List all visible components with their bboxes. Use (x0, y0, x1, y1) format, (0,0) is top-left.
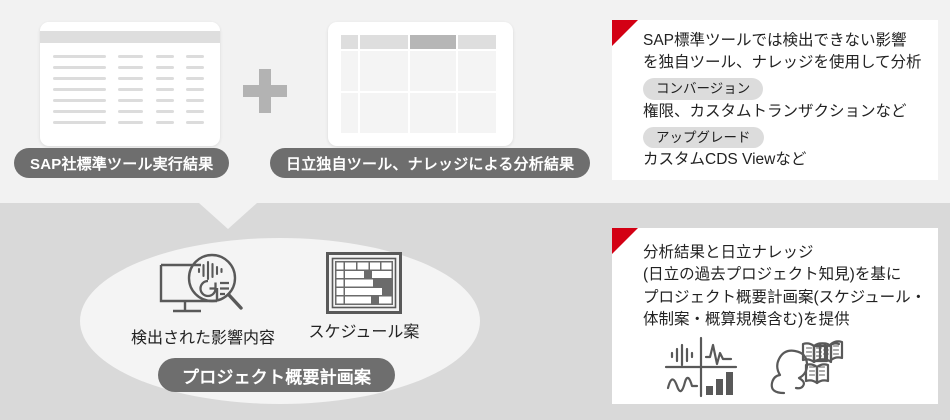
table-row (53, 51, 207, 62)
detected-impact-item: 検出された影響内容 (118, 248, 288, 348)
table-row (53, 106, 207, 117)
tag-conversion: コンバージョン (643, 78, 763, 100)
table-row (53, 95, 207, 106)
gantt-schedule-icon (326, 252, 402, 314)
label-sap-standard-tool-result: SAP社標準ツール実行結果 (14, 148, 229, 178)
panel1-line: を独自ツール、ナレッジを使用して分析 (643, 52, 930, 74)
deliverable-body: 分析結果と日立ナレッジ (日立の過去プロジェクト知見)を基に プロジェクト概要計… (643, 242, 930, 332)
panel1-line: SAP標準ツールでは検出できない影響 (643, 30, 930, 52)
panel2-line: プロジェクト概要計画案(スケジュール・ (643, 287, 930, 309)
analytics-quadrant-icon (664, 336, 738, 398)
table-row (53, 73, 207, 84)
table-row (53, 62, 207, 73)
panel1-detail: 権限、カスタムトランザクションなど (643, 101, 930, 123)
hitachi-tool-card (328, 22, 513, 146)
table-row (341, 51, 500, 91)
schedule-plan-item: スケジュール案 (294, 252, 434, 342)
tag-upgrade: アップグレード (643, 127, 764, 149)
card1-titlebar (40, 22, 220, 31)
label-hitachi-tool-result: 日立独自ツール、ナレッジによる分析結果 (270, 148, 590, 178)
table-row (53, 84, 207, 95)
panel2-line: 体制案・概算規模含む)を提供 (643, 309, 930, 331)
card1-table-rows (53, 51, 207, 128)
table-header-row (341, 35, 500, 49)
schedule-plan-caption: スケジュール案 (309, 318, 420, 342)
table-row (53, 117, 207, 128)
panel1-detail: カスタムCDS Viewなど (643, 149, 930, 171)
deliverable-panel: 分析結果と日立ナレッジ (日立の過去プロジェクト知見)を基に プロジェクト概要計… (612, 228, 938, 404)
card2-table (341, 35, 500, 133)
panel2-line: 分析結果と日立ナレッジ (643, 242, 930, 264)
detected-impact-caption: 検出された影響内容 (131, 324, 275, 348)
project-outline-plan-pill: プロジェクト概要計画案 (158, 358, 395, 392)
down-arrow-notch (199, 203, 257, 229)
highlighted-header-cell (410, 35, 456, 49)
diagram-root: SAP社標準ツール実行結果 日立独自ツール、ナレッジによる分析結果 検出された影… (0, 0, 950, 420)
card1-table-header (40, 31, 220, 43)
analysis-scope-body: SAP標準ツールでは検出できない影響 を独自ツール、ナレッジを使用して分析 コン… (643, 30, 930, 171)
monitor-magnifier-analytics-icon (157, 248, 249, 320)
person-knowledge-books-icon (764, 336, 848, 398)
plus-operator-icon (243, 69, 287, 113)
table-row (341, 93, 500, 133)
panel2-line: (日立の過去プロジェクト知見)を基に (643, 264, 930, 286)
red-corner-marker-icon (612, 20, 638, 46)
deliverable-icon-row (664, 336, 848, 398)
red-corner-marker-icon (612, 228, 638, 254)
analysis-scope-panel: SAP標準ツールでは検出できない影響 を独自ツール、ナレッジを使用して分析 コン… (612, 20, 938, 180)
sap-standard-tool-card (40, 22, 220, 146)
